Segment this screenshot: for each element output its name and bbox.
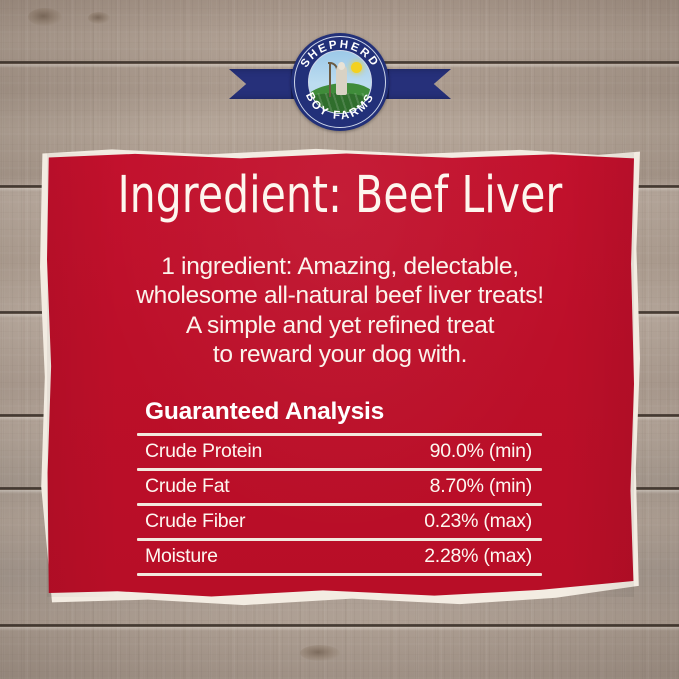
table-row: Crude Fiber 0.23% (max) [137, 506, 542, 538]
guaranteed-analysis-table: Guaranteed Analysis Crude Protein 90.0% … [137, 398, 542, 576]
badge-bottom-text: BOY FARMS [303, 91, 377, 123]
nutrient-value: 2.28% (max) [424, 545, 532, 568]
description-line: A simple and yet refined treat [74, 311, 606, 340]
description-line: wholesome all-natural beef liver treats! [74, 281, 606, 310]
description-text: 1 ingredient: Amazing, delectable, whole… [74, 252, 606, 370]
nutrient-label: Crude Fiber [145, 510, 245, 533]
page-title: Ingredient: Beef Liver [100, 170, 580, 222]
nutrient-value: 8.70% (min) [430, 475, 532, 498]
nutrient-label: Crude Fat [145, 475, 229, 498]
guaranteed-analysis-title: Guaranteed Analysis [137, 398, 542, 426]
nutrient-value: 90.0% (min) [430, 440, 532, 463]
table-row: Crude Protein 90.0% (min) [137, 436, 542, 468]
badge-arc-text: SHEPHERD BOY FARMS [291, 33, 389, 131]
table-row: Crude Fat 8.70% (min) [137, 471, 542, 503]
table-row: Moisture 2.28% (max) [137, 541, 542, 573]
logo-badge: SHEPHERD BOY FARMS [291, 33, 389, 131]
shepherd-boy-farms-logo: SHEPHERD BOY FARMS [229, 33, 451, 133]
description-line: to reward your dog with. [74, 340, 606, 369]
red-label-panel: Ingredient: Beef Liver 1 ingredient: Ama… [40, 148, 640, 606]
product-label-image: SHEPHERD BOY FARMS Ingredient: Beef Live… [0, 0, 679, 679]
nutrient-label: Crude Protein [145, 440, 262, 463]
nutrient-label: Moisture [145, 545, 218, 568]
description-line: 1 ingredient: Amazing, delectable, [74, 252, 606, 281]
table-rule [137, 573, 542, 576]
badge-top-text: SHEPHERD [299, 39, 381, 70]
nutrient-value: 0.23% (max) [424, 510, 532, 533]
label-content: Ingredient: Beef Liver 1 ingredient: Ama… [40, 148, 640, 606]
